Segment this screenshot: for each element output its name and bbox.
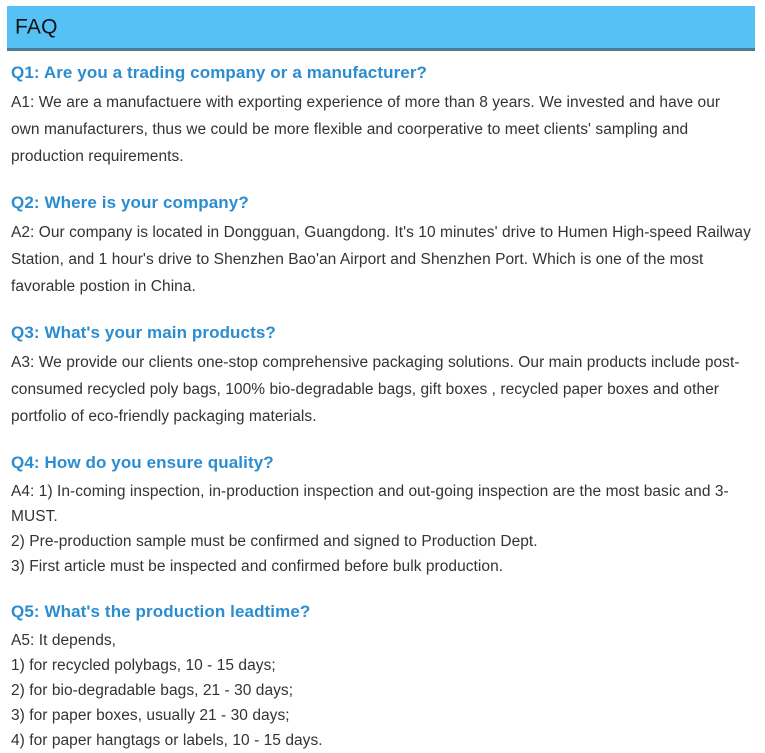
faq-header-bar: FAQ: [7, 6, 755, 51]
faq-item-q1: Q1: Are you a trading company or a manuf…: [11, 62, 753, 170]
faq-item-q4: Q4: How do you ensure quality? A4: 1) In…: [11, 452, 753, 579]
page-title: FAQ: [15, 17, 58, 38]
faq-answer-line: 2) for bio-degradable bags, 21 - 30 days…: [11, 678, 753, 703]
faq-list: Q1: Are you a trading company or a manuf…: [11, 62, 753, 753]
faq-question-q3: Q3: What's your main products?: [11, 322, 753, 344]
faq-question-q2: Q2: Where is your company?: [11, 192, 753, 214]
faq-answer-q2: A2: Our company is located in Dongguan, …: [11, 219, 753, 300]
faq-answer-q1: A1: We are a manufactuere with exporting…: [11, 89, 753, 170]
faq-item-q3: Q3: What's your main products? A3: We pr…: [11, 322, 753, 430]
faq-page: FAQ Q1: Are you a trading company or a m…: [0, 0, 765, 748]
faq-answer-q5: A5: It depends, 1) for recycled polybags…: [11, 628, 753, 753]
faq-answer-line: 3) First article must be inspected and c…: [11, 554, 753, 579]
faq-answer-line: 1) for recycled polybags, 10 - 15 days;: [11, 653, 753, 678]
faq-answer-line: 3) for paper boxes, usually 21 - 30 days…: [11, 703, 753, 728]
faq-item-q2: Q2: Where is your company? A2: Our compa…: [11, 192, 753, 300]
faq-answer-q3: A3: We provide our clients one-stop comp…: [11, 349, 753, 430]
faq-question-q1: Q1: Are you a trading company or a manuf…: [11, 62, 753, 84]
faq-answer-line: A5: It depends,: [11, 628, 753, 653]
faq-answer-line: A4: 1) In-coming inspection, in-producti…: [11, 479, 753, 529]
faq-question-q5: Q5: What's the production leadtime?: [11, 601, 753, 623]
faq-answer-q4: A4: 1) In-coming inspection, in-producti…: [11, 479, 753, 579]
faq-question-q4: Q4: How do you ensure quality?: [11, 452, 753, 474]
faq-answer-line: 4) for paper hangtags or labels, 10 - 15…: [11, 728, 753, 753]
faq-answer-line: 2) Pre-production sample must be confirm…: [11, 529, 753, 554]
faq-item-q5: Q5: What's the production leadtime? A5: …: [11, 601, 753, 753]
